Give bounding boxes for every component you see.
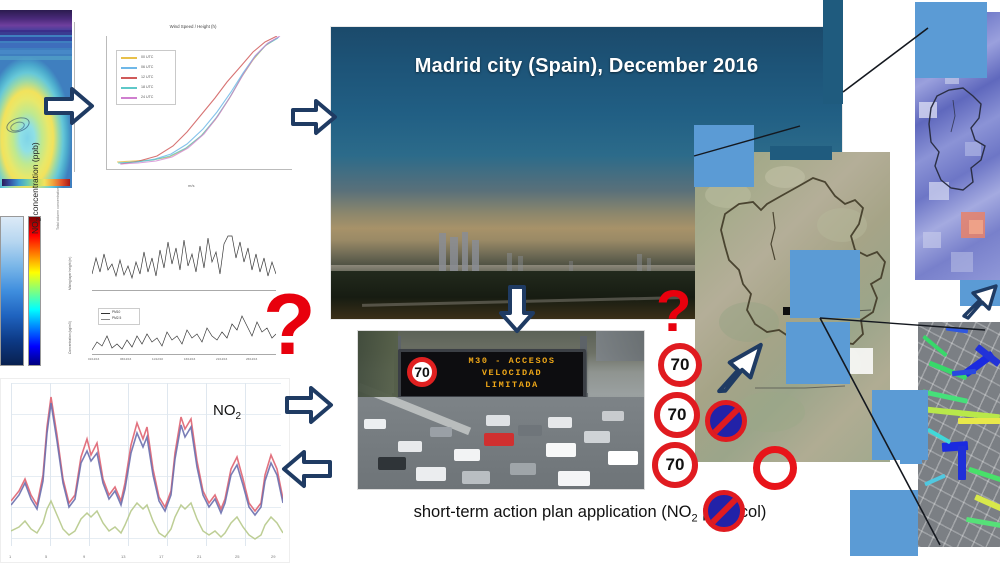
colorbar-axis-label: NO2 concentration (ppb) <box>30 114 43 234</box>
no2-xtick-1: 5 <box>45 554 47 559</box>
linechart-xlabel: m/s <box>188 183 194 188</box>
sign-restricted-circle[interactable] <box>753 446 797 490</box>
pm-timeseries-top <box>92 228 276 291</box>
madrid-photo-headline: Madrid city (Spain), December 2016 <box>331 55 842 78</box>
no2-diurnal-chart: NO2 1 5 9 13 17 21 25 29 <box>0 378 290 563</box>
vms-line-1: M30 - ACCESOS <box>445 355 579 367</box>
variable-message-sign: 70 M30 - ACCESOS VELOCIDAD LIMITADA <box>398 349 586 399</box>
arrow-left-feedback-to-no2 <box>282 448 332 490</box>
colorbar-blues <box>0 216 24 366</box>
pm-xtick-1: 06/12/16 <box>120 357 131 361</box>
question-mark-1: ? <box>263 282 316 368</box>
no2-xtick-4: 17 <box>159 554 163 559</box>
no2-xtick-7: 29 <box>271 554 275 559</box>
arrow-diagonal-streetmap <box>960 282 1000 322</box>
sign-speed-limit-3[interactable]: 70 <box>652 442 698 488</box>
vms-speed-roundel: 70 <box>407 357 437 387</box>
redaction-box-4 <box>770 146 832 160</box>
no2-xtick-0: 1 <box>9 554 11 559</box>
question-mark-2: ? <box>656 283 691 341</box>
no2-xtick-6: 25 <box>235 554 239 559</box>
redaction-box-2 <box>823 0 843 104</box>
redaction-box-1 <box>915 2 987 78</box>
pm-timeseries-legend: PM10 PM2.5 <box>98 308 140 325</box>
arrow-right-profile-to-photo <box>291 98 337 136</box>
redaction-box-6 <box>786 322 850 384</box>
linechart-legend: 00 UTC 06 UTC 12 UTC 18 UTC 24 UTC <box>116 50 176 105</box>
figure-canvas: Wind Speed / Height (h) 00 UTC 06 UTC 12… <box>0 0 1000 567</box>
traffic-lanes <box>358 397 644 489</box>
madrid-m30-traffic-photo: 70 M30 - ACCESOS VELOCIDAD LIMITADA <box>357 330 645 490</box>
traffic-left-foliage <box>358 331 398 397</box>
redaction-box-3 <box>694 125 754 187</box>
arrow-right-no2-to-traffic <box>285 385 333 425</box>
sign-no-parking-1[interactable] <box>705 400 747 442</box>
pm-timeseries-panel: Mixing layer height (m) Concentration (u… <box>62 212 280 370</box>
no-parking-slash-icon <box>708 403 745 440</box>
no2-xtick-2: 9 <box>83 554 85 559</box>
redaction-box-9 <box>900 392 922 464</box>
no-parking-slash-icon <box>706 493 743 530</box>
sign-no-parking-2[interactable] <box>703 490 745 532</box>
pm-xtick-0: 01/12/16 <box>88 357 99 361</box>
linechart-title: Wind Speed / Height (h) <box>88 24 298 29</box>
pm-xtick-4: 21/12/16 <box>216 357 227 361</box>
sign-speed-limit-1[interactable]: 70 <box>658 343 702 387</box>
no2-xtick-5: 21 <box>197 554 201 559</box>
arrow-diagonal-signs-to-satmap <box>712 340 768 394</box>
no2-chart-series <box>11 383 283 547</box>
arrow-down-photo-to-traffic <box>498 285 536 333</box>
pm-xtick-2: 11/12/16 <box>152 357 163 361</box>
pm-timeseries-bottom-ylabel: Concentration (ug/m3) <box>68 321 72 354</box>
street-level-emission-map <box>918 322 1000 547</box>
pm-timeseries-top-ylabel: Mixing layer height (m) <box>68 257 72 290</box>
vms-line-3: LIMITADA <box>445 379 579 391</box>
vms-line-2: VELOCIDAD <box>445 367 579 379</box>
redaction-box-8 <box>850 490 918 556</box>
colorbar-jet <box>28 216 41 366</box>
no2-colorbar-group: NO2 concentration (ppb) Total column con… <box>0 200 62 380</box>
sign-speed-limit-2[interactable]: 70 <box>654 392 700 438</box>
figure-caption: short-term action plan application (NO2 … <box>330 503 850 524</box>
colorbar-secondary-label: Total column concentration <box>56 120 60 230</box>
arrow-right-synoptic-to-profile <box>44 86 94 126</box>
synoptic-purple-band <box>0 10 72 32</box>
traffic-right-jam <box>596 331 645 361</box>
vertical-profile-line-chart: Wind Speed / Height (h) 00 UTC 06 UTC 12… <box>88 22 298 192</box>
pm-xtick-5: 26/12/16 <box>246 357 257 361</box>
no2-chart-label: NO2 <box>213 402 241 422</box>
vms-text-lines: M30 - ACCESOS VELOCIDAD LIMITADA <box>445 355 579 391</box>
mixing-height-series <box>92 228 276 290</box>
redaction-box-5 <box>790 250 860 318</box>
pm-xtick-3: 16/12/16 <box>184 357 195 361</box>
no2-xtick-3: 13 <box>121 554 125 559</box>
